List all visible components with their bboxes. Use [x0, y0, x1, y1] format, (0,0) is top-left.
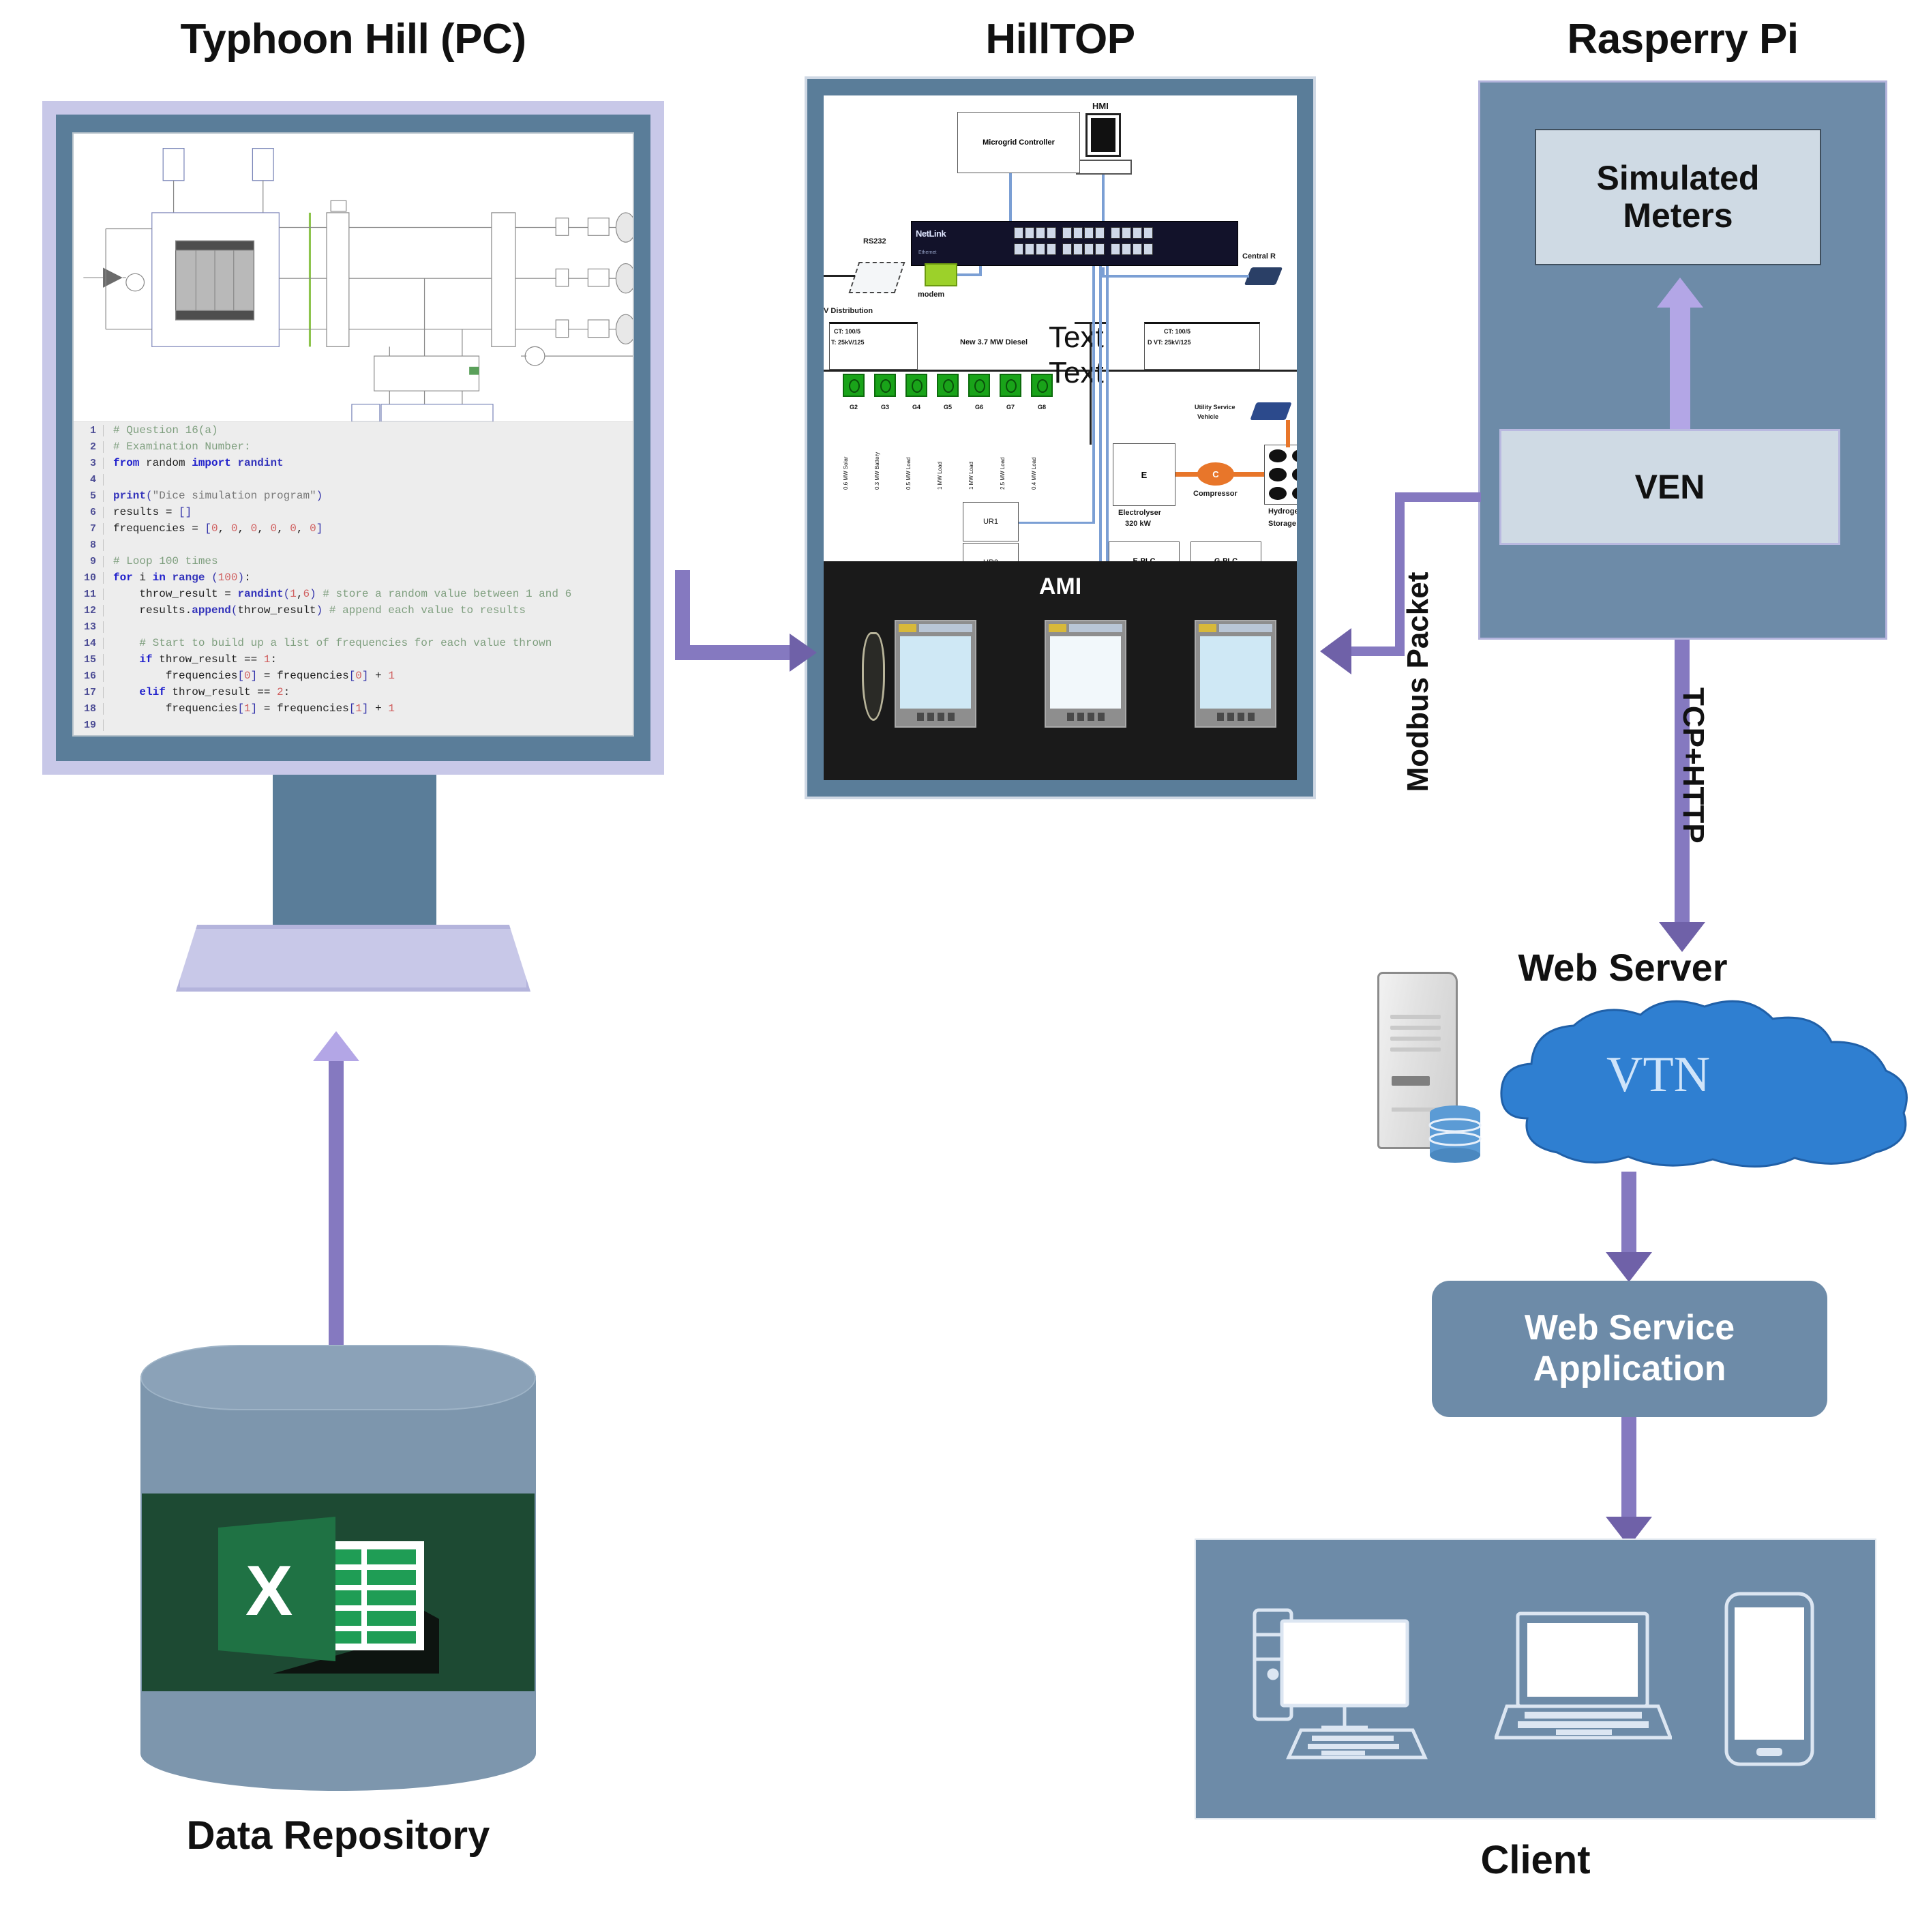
code-line-text: results = []	[104, 506, 192, 518]
code-line-number: 6	[74, 507, 104, 518]
compressor-label: Compressor	[1193, 490, 1238, 498]
wire-external-link	[824, 275, 855, 277]
wire-switch-down-3	[1106, 266, 1109, 561]
text-annotation-1: Text	[1049, 321, 1104, 355]
feeder-label: 1 MW Load	[937, 421, 959, 490]
wire-modem-switch-h	[957, 273, 982, 276]
feeder-label: 0.6 MW Solar	[843, 421, 865, 490]
page-title-typhoon-hill: Typhoon Hill (PC)	[42, 15, 664, 63]
code-line: 14 # Start to build up a list of frequen…	[74, 635, 633, 651]
hilltop-monitor[interactable]: HMI Microgrid Controller NetLink Etherne…	[805, 76, 1316, 799]
repo-top-ellipse	[140, 1345, 536, 1410]
breaker-icon[interactable]	[905, 374, 927, 397]
compressor-icon: C	[1197, 462, 1234, 486]
svg-text:X: X	[245, 1551, 293, 1631]
monitor-bezel: 1# Question 16(a)2# Examination Number:3…	[56, 115, 650, 761]
raspberry-pi-panel[interactable]: Simulated Meters VEN	[1478, 80, 1887, 640]
electrolyser-rating: 320 kW	[1125, 520, 1151, 528]
code-line-number: 5	[74, 490, 104, 502]
diesel-label: New 3.7 MW Diesel	[960, 338, 1028, 346]
arrow-pc-to-hilltop-head	[790, 634, 817, 672]
code-line-number: 15	[74, 654, 104, 666]
feeder-label: 1 MW Load	[968, 421, 990, 490]
code-line-text: frequencies[1] = frequencies[1] + 1	[104, 702, 395, 715]
code-line: 11 throw_result = randint(1,6) # store a…	[74, 586, 633, 602]
code-line-number: 2	[74, 441, 104, 453]
feeder-name-row: 0.6 MW Solar0.3 MW Battery0.5 MW Load1 M…	[843, 421, 1053, 490]
arrow-repo-to-pc-head	[313, 1031, 359, 1061]
ven-label: VEN	[1635, 467, 1705, 507]
wire-switch-router-h	[1102, 275, 1249, 278]
code-line-text: results.append(throw_result) # append ea…	[104, 604, 526, 616]
data-repository-cylinder[interactable]: X Data Repository	[140, 1345, 536, 1822]
rs232-label: RS232	[863, 237, 886, 246]
breaker-label: G6	[968, 404, 990, 411]
hydrogen-label-1: Hydrogen	[1268, 507, 1297, 516]
ami-meter[interactable]	[1045, 620, 1126, 728]
hydrogen-label-2: Storage	[1268, 520, 1296, 528]
arrow-cloud-to-service-head	[1606, 1252, 1652, 1282]
electrolyser-symbol: E	[1113, 444, 1175, 505]
feeder-label: 0.4 MW Load	[1031, 421, 1053, 490]
web-service-application-box[interactable]: Web Service Application	[1432, 1281, 1827, 1417]
code-line-list: 1# Question 16(a)2# Examination Number:3…	[74, 422, 633, 735]
code-line-number: 10	[74, 572, 104, 584]
code-line-text: # Examination Number:	[104, 441, 251, 453]
arrow-ven-to-meters-head	[1657, 278, 1703, 308]
central-router-icon	[1244, 267, 1283, 285]
tcp-http-label: TCP+HTTP	[1676, 687, 1710, 844]
wire-switch-down-2	[1099, 266, 1102, 561]
page-title-raspberry-pi: Rasperry Pi	[1478, 15, 1887, 63]
monitor-screen: 1# Question 16(a)2# Examination Number:3…	[72, 132, 634, 737]
vtn-cloud: VTN	[1486, 989, 1918, 1173]
electrolyser-label: Electrolyser	[1118, 509, 1161, 517]
ct-vt-box-left: CT: 100/5 T: 25kV/125	[829, 322, 918, 370]
smartphone-icon[interactable]	[1718, 1587, 1820, 1771]
data-repository-label: Data Repository	[59, 1813, 618, 1858]
vehicle-pipe	[1286, 420, 1290, 447]
modem-label: modem	[918, 291, 944, 299]
breaker-icon[interactable]	[1000, 374, 1021, 397]
ven-box[interactable]: VEN	[1499, 429, 1840, 545]
code-line-number: 17	[74, 687, 104, 698]
breaker-label: G8	[1031, 404, 1053, 411]
code-line-text: from random import randint	[104, 457, 284, 469]
code-line: 10for i in range (100):	[74, 569, 633, 586]
ct-vt-box-right: CT: 100/5 D VT: 25kV/125	[1144, 322, 1260, 370]
hydrogen-storage-box	[1264, 445, 1297, 505]
feeder-label: 0.3 MW Battery	[874, 421, 896, 490]
arrow-ven-to-meters-shaft	[1670, 308, 1690, 430]
distribution-label: V Distribution	[824, 307, 873, 315]
code-line-text: # Start to build up a list of frequencie…	[104, 637, 552, 649]
breaker-icon[interactable]	[874, 374, 896, 397]
desktop-computer-icon[interactable]	[1250, 1594, 1448, 1764]
breaker-icon[interactable]	[937, 374, 959, 397]
hmi-label: HMI	[1092, 101, 1109, 111]
code-line-number: 4	[74, 474, 104, 486]
microgrid-controller-box: Microgrid Controller	[957, 112, 1080, 173]
client-devices-panel[interactable]	[1195, 1539, 1876, 1819]
microgrid-controller-label: Microgrid Controller	[958, 113, 1079, 173]
code-line-text: throw_result = randint(1,6) # store a ra…	[104, 588, 571, 600]
e-plc-label: E-PLC	[1109, 542, 1179, 561]
code-line: 6results = []	[74, 504, 633, 520]
code-line: 9# Loop 100 times	[74, 553, 633, 569]
microsoft-excel-logo: X	[207, 1517, 439, 1674]
repo-excel-band: X	[142, 1493, 535, 1691]
code-line-number: 16	[74, 670, 104, 682]
code-line: 5print("Dice simulation program")	[74, 488, 633, 504]
simulated-meters-box[interactable]: Simulated Meters	[1535, 129, 1821, 265]
pipe-left	[1175, 472, 1199, 477]
relay-box[interactable]: UR2	[963, 543, 1019, 561]
code-line-text: for i in range (100):	[104, 571, 251, 584]
arrow-modbus-head	[1320, 628, 1351, 674]
svg-text:VTN: VTN	[1606, 1047, 1710, 1103]
wire-ur1-switch	[1019, 522, 1094, 524]
code-line-number: 18	[74, 703, 104, 715]
central-router-label: Central R	[1242, 252, 1276, 261]
code-line-number: 3	[74, 458, 104, 469]
code-line: 19	[74, 717, 633, 733]
arrow-cloud-to-service-shaft	[1621, 1172, 1636, 1262]
hmi-keyboard-icon	[1076, 160, 1132, 175]
monitor-stand-neck	[273, 775, 436, 925]
page-title-hilltop: HillTOP	[805, 15, 1316, 63]
code-line: 12 results.append(throw_result) # append…	[74, 602, 633, 619]
code-line: 7frequencies = [0, 0, 0, 0, 0, 0]	[74, 520, 633, 537]
code-line-number: 13	[74, 621, 104, 633]
code-line-text: print("Dice simulation program")	[104, 490, 323, 502]
code-line: 20print()	[74, 733, 633, 735]
breaker-icon[interactable]	[968, 374, 990, 397]
code-line: 16 frequencies[0] = frequencies[0] + 1	[74, 668, 633, 684]
code-line: 2# Examination Number:	[74, 439, 633, 455]
ct-right-label: CT: 100/5	[1164, 328, 1190, 335]
code-line: 13	[74, 619, 633, 635]
arrow-repo-to-pc-shaft	[329, 1061, 344, 1346]
breaker-icon[interactable]	[843, 374, 865, 397]
code-line: 18 frequencies[1] = frequencies[1] + 1	[74, 700, 633, 717]
monitor-stand-base	[176, 925, 530, 992]
arrow-modbus-bottom	[1351, 647, 1405, 656]
e-plc-box: E-PLC	[1109, 541, 1180, 561]
code-line-number: 11	[74, 589, 104, 600]
breaker-label: G3	[874, 404, 896, 411]
breaker-label: G7	[1000, 404, 1021, 411]
breaker-name-row: G2G3G4G5G6G7G8	[843, 404, 1053, 411]
code-line-number: 1	[74, 425, 104, 436]
ct-left-label: CT: 100/5	[834, 328, 860, 335]
breaker-row	[843, 374, 1053, 397]
compressor-symbol: C	[1212, 469, 1218, 479]
laptop-icon[interactable]	[1495, 1604, 1672, 1754]
cable-hook-icon	[862, 632, 885, 721]
breaker-label: G2	[843, 404, 865, 411]
relay-stack: UR1UR2UR3	[963, 502, 1019, 561]
wire-hmi-switch	[1102, 175, 1105, 221]
utility-service-label-2: Vehicle	[1197, 413, 1218, 420]
text-annotation-2: Text	[1049, 356, 1104, 390]
wire-bus-electrolyser	[1090, 322, 1092, 445]
code-line-text: if throw_result == 1:	[104, 653, 277, 666]
python-code-editor[interactable]: 1# Question 16(a)2# Examination Number:3…	[74, 422, 633, 735]
vt-right-label: D VT: 25kV/125	[1148, 339, 1191, 346]
g-plc-box: G-PLC	[1190, 541, 1261, 561]
arrow-pc-to-hilltop-vert	[675, 570, 690, 659]
code-line-text: elif throw_result == 2:	[104, 686, 290, 698]
code-line: 4	[74, 471, 633, 488]
web-service-line1: Web Service	[1525, 1308, 1735, 1349]
modem-icon	[925, 263, 957, 286]
modbus-packet-label: Modbus Packet	[1401, 572, 1435, 792]
code-line-text: # Loop 100 times	[104, 555, 218, 567]
arrow-service-to-client-shaft	[1621, 1417, 1636, 1526]
code-line: 15 if throw_result == 1:	[74, 651, 633, 668]
relay-box[interactable]: UR1	[963, 502, 1019, 541]
simulated-meters-line1: Simulated	[1597, 160, 1760, 197]
arrow-modbus-top	[1395, 492, 1481, 502]
utility-vehicle-icon	[1250, 402, 1291, 420]
code-line-number: 12	[74, 605, 104, 616]
utility-service-label-1: Utility Service	[1195, 404, 1235, 411]
code-line: 1# Question 16(a)	[74, 422, 633, 439]
code-line-text: frequencies[0] = frequencies[0] + 1	[104, 670, 395, 682]
code-line-number: 7	[74, 523, 104, 535]
breaker-label: G5	[937, 404, 959, 411]
ami-meter-row	[895, 620, 1276, 728]
vt-left-label: T: 25kV/125	[831, 339, 865, 346]
microgrid-network-diagram[interactable]: HMI Microgrid Controller NetLink Etherne…	[824, 95, 1297, 561]
hilltop-screen: HMI Microgrid Controller NetLink Etherne…	[824, 95, 1297, 780]
ami-meter-photo[interactable]: AMI	[824, 561, 1297, 780]
hmi-icon	[1085, 113, 1121, 157]
feeder-label: 0.5 MW Load	[905, 421, 927, 490]
code-line-text: # Question 16(a)	[104, 424, 218, 436]
pipe-right	[1233, 472, 1265, 477]
ami-meter[interactable]	[1195, 620, 1276, 728]
simulink-schematic	[74, 134, 633, 421]
arrow-pc-to-hilltop-shaft	[675, 645, 791, 660]
web-service-line2: Application	[1525, 1349, 1735, 1390]
wire-modem-switch-v	[979, 266, 982, 276]
code-line: 3from random import randint	[74, 455, 633, 471]
radio-link-icon	[849, 262, 905, 293]
simulink-model-canvas[interactable]	[74, 134, 633, 422]
wire-text-tee	[1075, 322, 1107, 324]
electrolyser-box: E	[1113, 443, 1175, 506]
breaker-icon[interactable]	[1031, 374, 1053, 397]
web-server-label: Web Server	[1480, 945, 1766, 990]
g-plc-label: G-PLC	[1191, 542, 1261, 561]
code-line-number: 19	[74, 719, 104, 731]
ami-label: AMI	[824, 574, 1297, 600]
code-line-text: frequencies = [0, 0, 0, 0, 0, 0]	[104, 522, 323, 535]
wire-switch-down-1	[1092, 266, 1095, 524]
wire-controller-switch	[1009, 173, 1012, 221]
breaker-label: G4	[905, 404, 927, 411]
code-line-number: 8	[74, 539, 104, 551]
database-cylinder-icon	[1428, 1105, 1482, 1163]
code-line-number: 9	[74, 556, 104, 567]
ethernet-switch: NetLink Ethernet	[911, 221, 1238, 266]
typhoon-hill-pc-monitor[interactable]: 1# Question 16(a)2# Examination Number:3…	[42, 101, 664, 775]
ami-meter[interactable]	[895, 620, 976, 728]
code-line: 8	[74, 537, 633, 553]
simulated-meters-line2: Meters	[1597, 197, 1760, 235]
code-line-number: 14	[74, 638, 104, 649]
feeder-label: 2.5 MW Load	[1000, 421, 1021, 490]
code-line: 17 elif throw_result == 2:	[74, 684, 633, 700]
client-label: Client	[1195, 1837, 1876, 1883]
